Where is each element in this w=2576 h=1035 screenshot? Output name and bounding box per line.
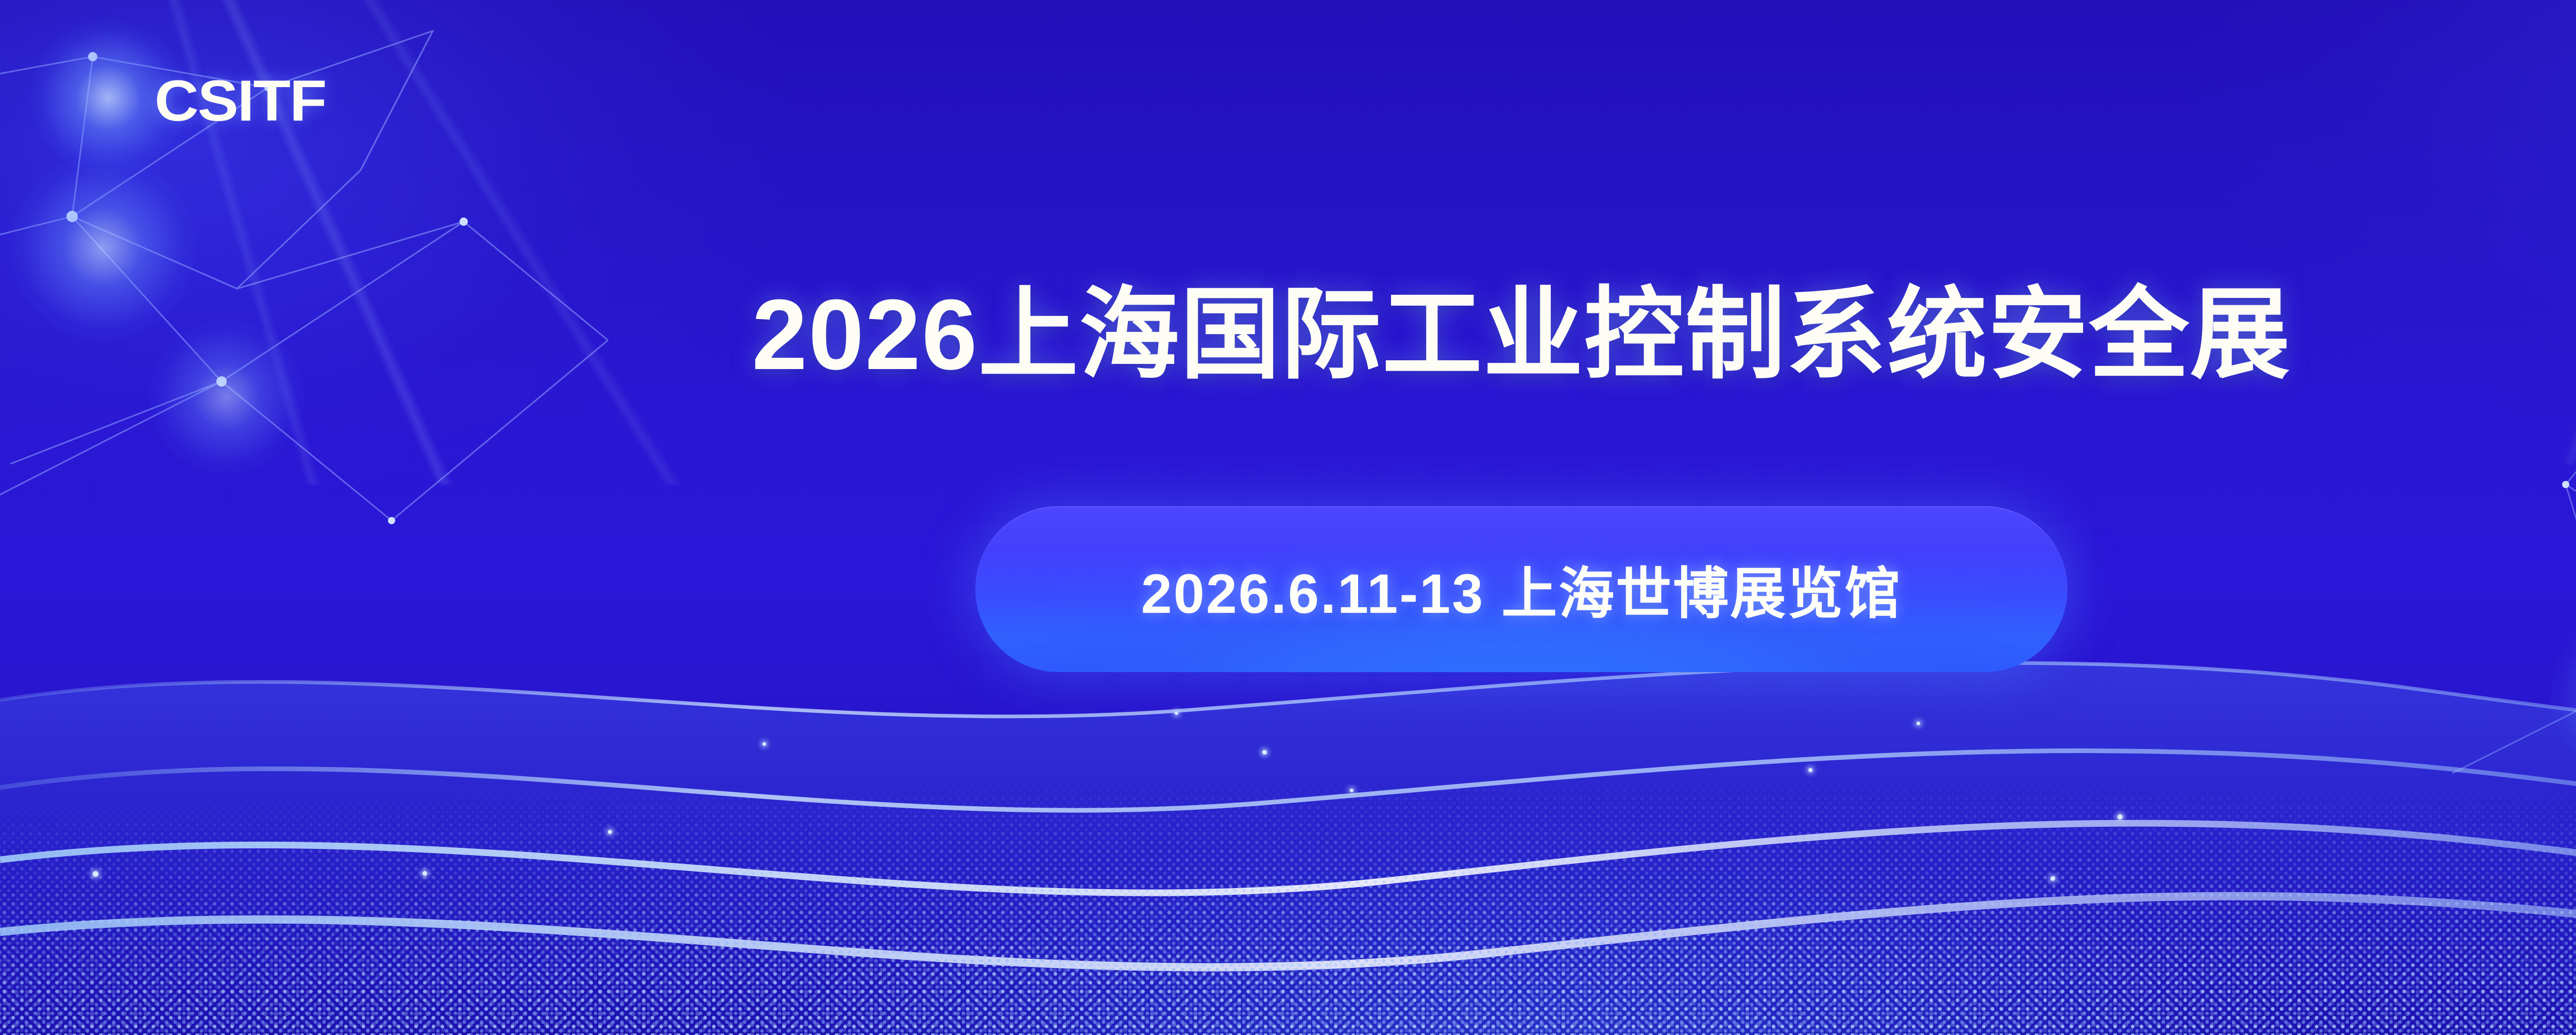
info-pill-container: 2026.6.11-13 上海世博展览馆	[0, 506, 2576, 672]
page-title: 2026上海国际工业控制系统安全展	[0, 282, 2576, 388]
sparkle-icon	[1262, 750, 1267, 755]
sparkle-icon	[93, 871, 98, 877]
sparkle-icon	[1175, 711, 1178, 715]
sparkle-icon	[1808, 768, 1812, 772]
sparkle-icon	[608, 830, 612, 834]
sparkle-icon	[1917, 722, 1920, 725]
csitf-logo[interactable]: CSITF	[155, 72, 326, 130]
sparkle-icon	[2050, 876, 2055, 881]
sparkle-icon	[762, 742, 766, 746]
sparkle-icon	[1350, 789, 1353, 792]
event-banner: CSITF 2026上海国际工业控制系统安全展 2026.6.11-13 上海世…	[0, 0, 2576, 1035]
date-venue-badge[interactable]: 2026.6.11-13 上海世博展览馆	[975, 506, 2067, 672]
date-venue-text: 2026.6.11-13 上海世博展览馆	[1141, 549, 1902, 629]
sparkle-icon	[2117, 814, 2123, 820]
sparkle-icon	[422, 871, 427, 876]
